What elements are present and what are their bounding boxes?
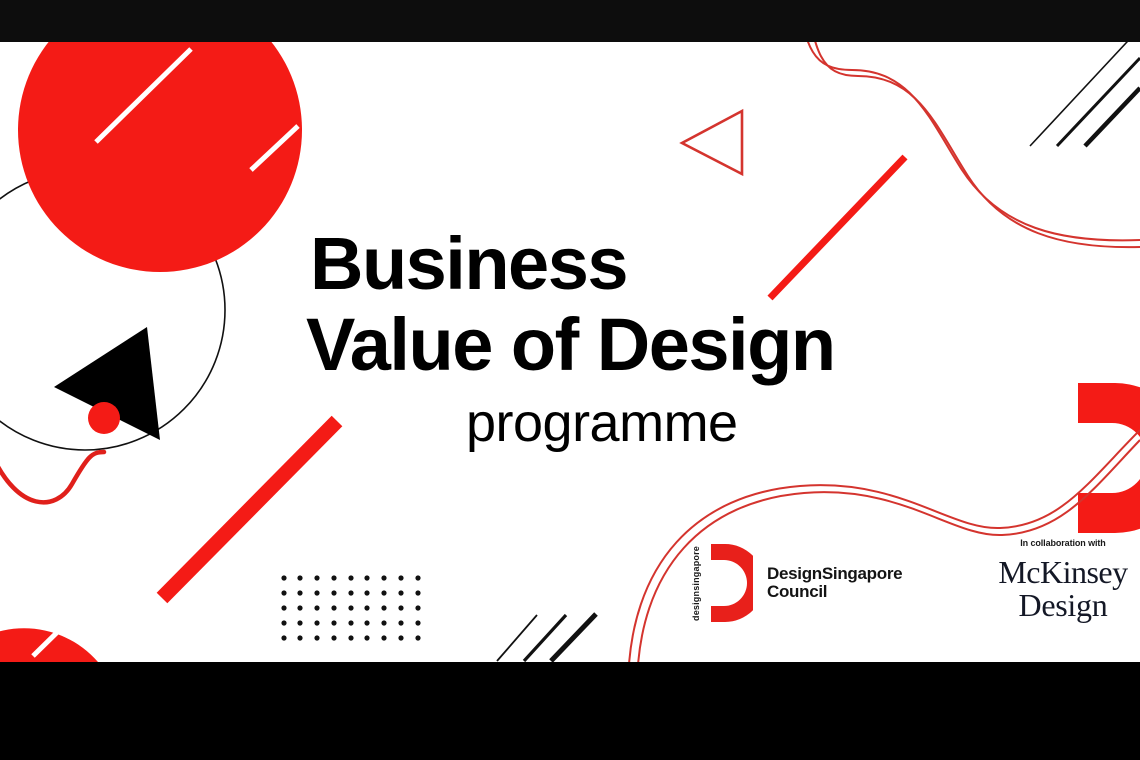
slide-canvas: Business Value of Design programme desig… (0, 0, 1140, 760)
letterbox-bar-top (0, 0, 1140, 42)
title-line-1: Business (310, 228, 835, 299)
collaboration-label: In collaboration with (998, 538, 1127, 548)
designsingapore-wordmark: DesignSingapore Council (767, 565, 902, 601)
red-triangle-outline (682, 111, 742, 174)
white-slash-in-half-circle (33, 553, 138, 656)
mckinsey-design-logo: In collaboration with McKinsey Design (998, 538, 1127, 622)
black-diagonal-line-b-3 (551, 614, 596, 661)
red-wave-left (0, 452, 104, 502)
black-diagonal-line-tr-1 (1030, 28, 1140, 146)
logo-lockup-row: designsingapore DesignSingapore Council … (692, 538, 1128, 622)
black-diagonal-line-tr-3 (1085, 88, 1140, 146)
small-red-dot (88, 402, 120, 434)
red-half-circle-bottom-left (0, 628, 98, 662)
dot-grid (281, 575, 420, 640)
designsingapore-d-mark (711, 544, 753, 622)
designsingapore-name-line-2: Council (767, 583, 902, 601)
title-line-3: programme (466, 398, 835, 450)
title-line-2: Value of Design (306, 309, 835, 380)
designsingapore-logo: designsingapore DesignSingapore Council (692, 544, 902, 622)
page-title: Business Value of Design programme (306, 228, 835, 450)
mckinsey-wordmark: McKinsey Design (998, 557, 1127, 620)
designsingapore-vertical-wordmark: designsingapore (692, 545, 701, 621)
letterbox-bar-bottom (0, 662, 1140, 760)
red-d-shape-right-edge (1078, 383, 1140, 533)
designsingapore-name-line-1: DesignSingapore (767, 565, 902, 583)
mckinsey-name-line-2: Design (998, 590, 1127, 620)
mckinsey-name-line-1: McKinsey (998, 557, 1127, 587)
